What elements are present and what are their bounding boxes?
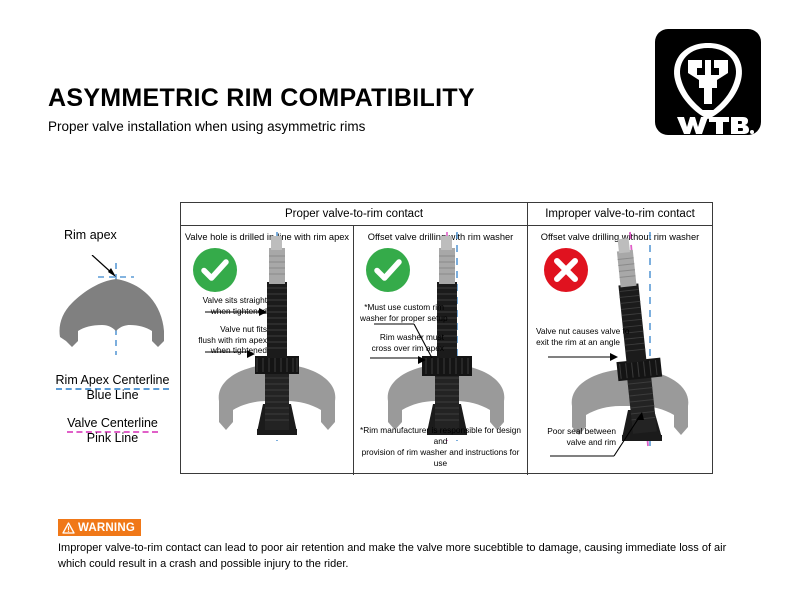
header-improper-contact: Improper valve-to-rim contact — [528, 203, 712, 225]
panel-inline-drilling: Valve hole is drilled in-line with rim a… — [181, 226, 354, 475]
apex-arrow-head — [108, 268, 116, 277]
legend-blue-label-2: Blue Line — [40, 388, 185, 403]
comparison-table: Proper valve-to-rim contact Improper val… — [180, 202, 713, 474]
valve-cap-2 — [439, 248, 455, 284]
rim-cross-section-illustration — [46, 255, 186, 365]
warning-body-text: Improper valve-to-rim contact can lead t… — [58, 541, 748, 572]
valve-cap-3 — [617, 250, 637, 287]
rim-profile-shape — [60, 279, 165, 347]
rim-apex-label: Rim apex — [64, 228, 117, 242]
annotation-valve-nut-flush: Valve nut fits flush with rim apex when … — [187, 324, 267, 356]
legend-pink-label-2: Pink Line — [40, 431, 185, 446]
panel-2-footnote: *Rim manufacturer is responsible for des… — [358, 425, 523, 469]
valve-upper-stem-1 — [267, 282, 287, 358]
annotation-custom-rim-washer: *Must use custom rim washer for proper s… — [360, 302, 444, 323]
wtb-logo — [655, 29, 761, 135]
poster-root: ASYMMETRIC RIM COMPATIBILITY Proper valv… — [0, 0, 793, 613]
warning-label: WARNING — [78, 522, 135, 534]
valve-nut-1 — [255, 356, 299, 374]
legend-blue-line: Rim Apex Centerline Blue Line — [40, 373, 185, 403]
rim-washer-nut-2 — [422, 356, 472, 376]
wtb-badger-head-icon — [655, 29, 761, 135]
annotation-washer-cross-apex: Rim washer must cross over rim apex — [364, 332, 444, 353]
annotation-poor-seal: Poor seal between valve and rim — [538, 426, 616, 447]
annotation-valve-exits-at-angle: Valve nut causes valve to exit the rim a… — [536, 326, 620, 347]
valve-cap-1 — [269, 248, 285, 284]
panel-offset-with-washer: Offset valve drilling with rim washer — [354, 226, 528, 475]
warning-triangle-icon — [62, 522, 75, 534]
page-title: ASYMMETRIC RIM COMPATIBILITY — [48, 84, 475, 113]
header-proper-contact: Proper valve-to-rim contact — [181, 203, 528, 225]
valve-upper-stem-3 — [618, 283, 646, 363]
annotation-valve-sits-straight: Valve sits straight when tightened — [195, 295, 267, 316]
page-subtitle: Proper valve installation when using asy… — [48, 119, 365, 134]
legend-pink-line: Valve Centerline Pink Line — [40, 416, 185, 446]
panel-offset-without-washer: Offset valve drilling without rim washer — [528, 226, 712, 475]
table-header-row: Proper valve-to-rim contact Improper val… — [181, 203, 712, 226]
warning-badge: WARNING — [58, 519, 141, 536]
table-body-row: Valve hole is drilled in-line with rim a… — [181, 226, 712, 475]
